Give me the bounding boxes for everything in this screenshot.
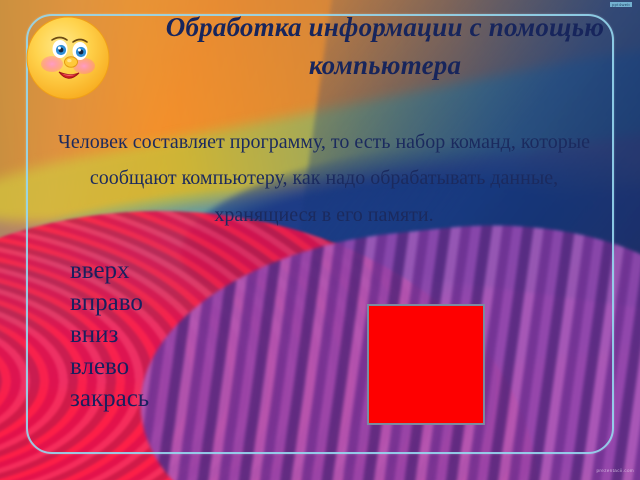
list-item: вниз xyxy=(70,319,195,351)
red-square-shape xyxy=(367,304,485,425)
slide-paragraph: Человек составляет программу, то есть на… xyxy=(44,124,604,233)
command-list: вверх вправо вниз влево закрась xyxy=(70,255,195,415)
sun-icon xyxy=(4,0,132,124)
list-item: вправо xyxy=(70,287,195,319)
watermark-bottom-right: prezentacii.com xyxy=(596,469,634,474)
slide-title: Обработка информации с помощью компьютер… xyxy=(150,8,620,85)
list-item: закрась xyxy=(70,383,195,415)
watermark-top-right: ppt4web xyxy=(610,3,632,7)
presentation-slide: Обработка информации с помощью компьютер… xyxy=(0,0,640,480)
list-item: влево xyxy=(70,351,195,383)
list-item: вверх xyxy=(70,255,195,287)
watermark-top-label: ppt4web xyxy=(610,2,632,7)
